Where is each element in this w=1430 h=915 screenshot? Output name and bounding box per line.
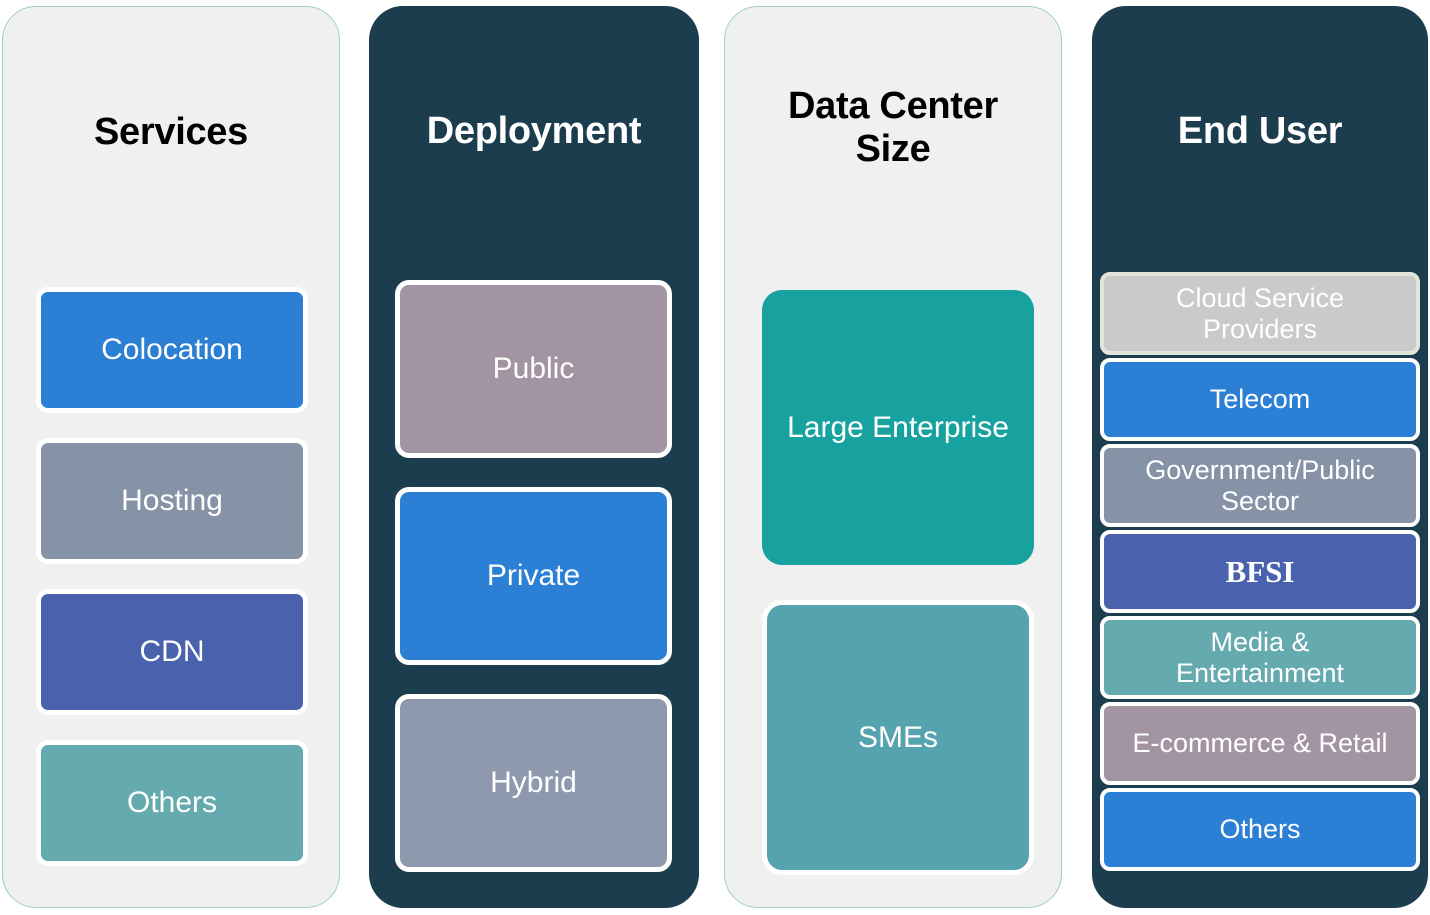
node-end-user-1[interactable]: Telecom — [1100, 358, 1420, 441]
node-end-user-3[interactable]: BFSI — [1100, 530, 1420, 613]
node-data-center-size-1[interactable]: SMEs — [762, 600, 1034, 875]
node-services-2[interactable]: CDN — [36, 589, 308, 715]
panel-title-services: Services — [3, 111, 339, 154]
node-deployment-2[interactable]: Hybrid — [395, 694, 672, 872]
node-end-user-6[interactable]: Others — [1100, 788, 1420, 871]
node-end-user-4[interactable]: Media & Entertainment — [1100, 616, 1420, 699]
panel-title-end-user: End User — [1092, 110, 1428, 153]
node-services-0[interactable]: Colocation — [36, 287, 308, 413]
node-end-user-0[interactable]: Cloud Service Providers — [1100, 272, 1420, 355]
panel-end-user: End UserCloud Service ProvidersTelecomGo… — [1092, 6, 1428, 908]
node-services-1[interactable]: Hosting — [36, 438, 308, 564]
panel-deployment: DeploymentPublicPrivateHybrid — [369, 6, 699, 908]
node-deployment-0[interactable]: Public — [395, 280, 672, 458]
panel-title-data-center-size: Data Center Size — [725, 85, 1061, 170]
panel-title-deployment: Deployment — [369, 110, 699, 153]
node-end-user-5[interactable]: E-commerce & Retail — [1100, 702, 1420, 785]
panel-data-center-size: Data Center SizeLarge EnterpriseSMEs — [724, 6, 1062, 908]
panel-services: ServicesColocationHostingCDNOthers — [2, 6, 340, 908]
node-deployment-1[interactable]: Private — [395, 487, 672, 665]
node-data-center-size-0[interactable]: Large Enterprise — [762, 290, 1034, 565]
node-end-user-2[interactable]: Government/Public Sector — [1100, 444, 1420, 527]
node-services-3[interactable]: Others — [36, 740, 308, 866]
segmentation-diagram: ServicesColocationHostingCDNOthersDeploy… — [0, 0, 1430, 915]
